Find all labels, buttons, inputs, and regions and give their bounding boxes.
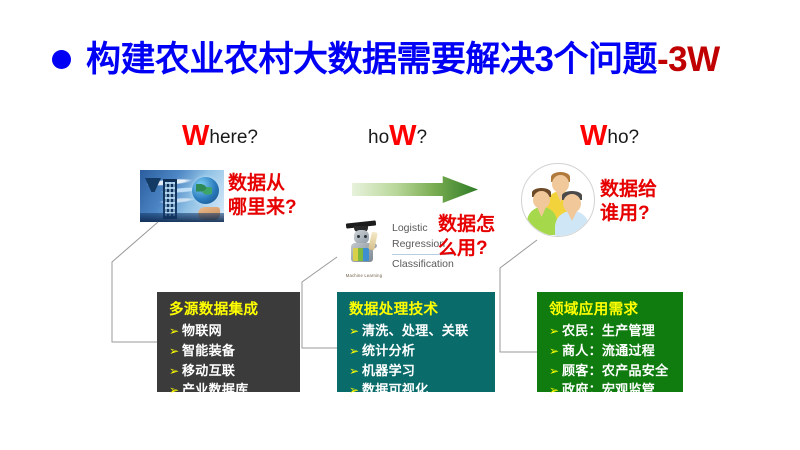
list-item: ➢产业数据库 xyxy=(169,380,300,400)
list-item: ➢农民：生产管理 xyxy=(549,321,683,341)
info-box-domain-application-needs: 领域应用需求 ➢农民：生产管理 ➢商人：流通过程 ➢顾客：农产品安全 ➢政府：宏… xyxy=(537,292,683,392)
list-item-label: 智能装备 xyxy=(182,343,235,358)
arrow-bullet-icon: ➢ xyxy=(169,363,182,381)
arrow-bullet-icon: ➢ xyxy=(349,363,362,381)
connector-line-2 xyxy=(302,257,337,348)
list-item: ➢智能装备 xyxy=(169,341,300,361)
list-item: ➢机器学习 xyxy=(349,361,495,381)
info-box-multi-source-integration: 多源数据集成 ➢物联网 ➢智能装备 ➢移动互联 ➢产业数据库 xyxy=(157,292,300,392)
list-item-label: 农民：生产管理 xyxy=(562,323,655,338)
arrow-bullet-icon: ➢ xyxy=(549,343,562,361)
info-box-2-list: ➢清洗、处理、关联 ➢统计分析 ➢机器学习 ➢数据可视化 xyxy=(349,321,495,400)
list-item-label: 商人：流通过程 xyxy=(562,343,655,358)
info-box-data-processing-tech: 数据处理技术 ➢清洗、处理、关联 ➢统计分析 ➢机器学习 ➢数据可视化 xyxy=(337,292,495,392)
info-box-1-list: ➢物联网 ➢智能装备 ➢移动互联 ➢产业数据库 xyxy=(169,321,300,400)
list-item: ➢移动互联 xyxy=(169,361,300,381)
connector-line-1 xyxy=(112,222,158,342)
list-item: ➢顾客：农产品安全 xyxy=(549,361,683,381)
list-item: ➢统计分析 xyxy=(349,341,495,361)
arrow-bullet-icon: ➢ xyxy=(349,382,362,400)
list-item-label: 机器学习 xyxy=(362,363,415,378)
list-item: ➢数据可视化 xyxy=(349,380,495,400)
arrow-bullet-icon: ➢ xyxy=(549,382,562,400)
info-box-2-title: 数据处理技术 xyxy=(349,301,495,319)
arrow-bullet-icon: ➢ xyxy=(549,363,562,381)
list-item: ➢政府：宏观监管 xyxy=(549,380,683,400)
list-item: ➢清洗、处理、关联 xyxy=(349,321,495,341)
arrow-bullet-icon: ➢ xyxy=(349,343,362,361)
list-item-label: 顾客：农产品安全 xyxy=(562,363,668,378)
list-item-label: 产业数据库 xyxy=(182,382,249,397)
arrow-bullet-icon: ➢ xyxy=(549,323,562,341)
connector-line-3 xyxy=(500,240,537,352)
info-box-3-list: ➢农民：生产管理 ➢商人：流通过程 ➢顾客：农产品安全 ➢政府：宏观监管 xyxy=(549,321,683,400)
slide-canvas: 构建农业农村大数据需要解决3个问题 -3W Where? hoW? Who? 数… xyxy=(0,0,800,450)
arrow-bullet-icon: ➢ xyxy=(169,343,182,361)
arrow-bullet-icon: ➢ xyxy=(169,323,182,341)
list-item-label: 物联网 xyxy=(182,323,222,338)
list-item-label: 统计分析 xyxy=(362,343,415,358)
arrow-bullet-icon: ➢ xyxy=(349,323,362,341)
list-item: ➢物联网 xyxy=(169,321,300,341)
info-box-3-title: 领域应用需求 xyxy=(549,301,683,319)
list-item-label: 移动互联 xyxy=(182,363,235,378)
info-box-1-title: 多源数据集成 xyxy=(169,301,300,319)
list-item: ➢商人：流通过程 xyxy=(549,341,683,361)
list-item-label: 数据可视化 xyxy=(362,382,429,397)
arrow-bullet-icon: ➢ xyxy=(169,382,182,400)
list-item-label: 政府：宏观监管 xyxy=(562,382,655,397)
list-item-label: 清洗、处理、关联 xyxy=(362,323,468,338)
